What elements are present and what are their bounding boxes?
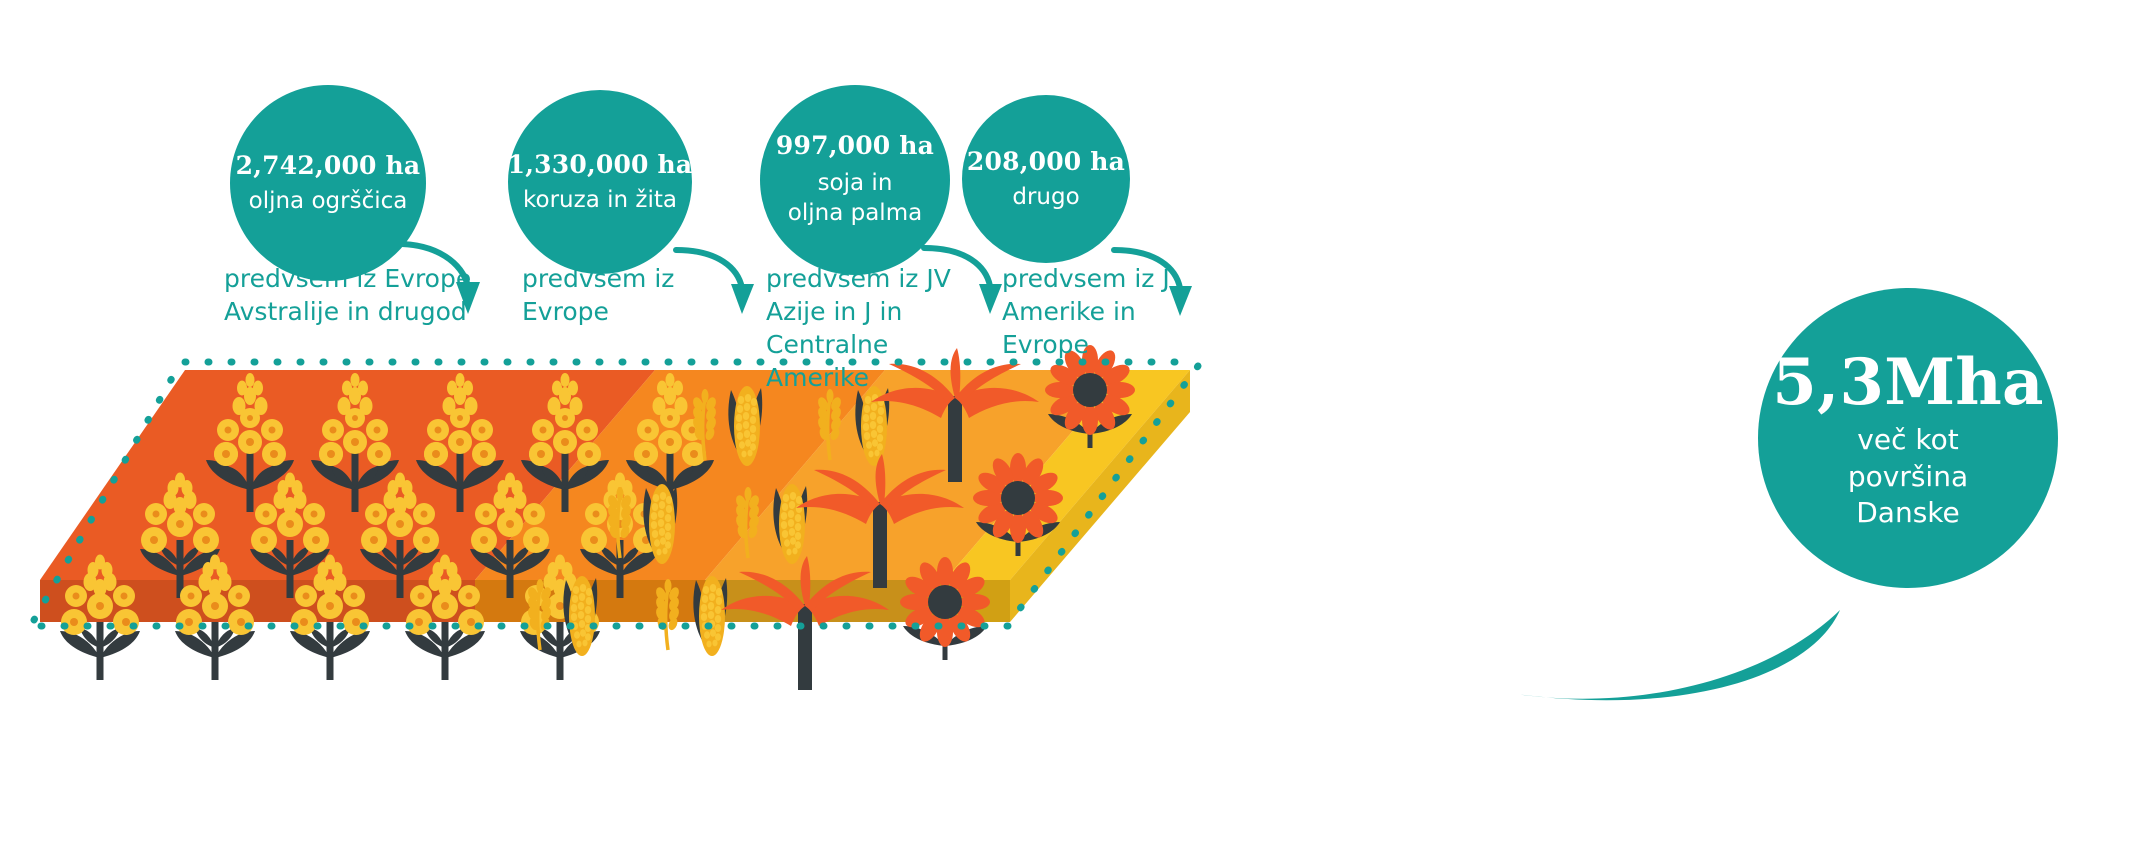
origin-caption-corn: predvsem iz Evrope	[522, 262, 722, 328]
stat-crop: drugo	[1012, 184, 1079, 211]
stat-bubble-other[interactable]: 208,000 ha drugo	[962, 95, 1130, 263]
total-description: več kotpovršinaDanske	[1848, 422, 1968, 531]
stat-amount: 1,330,000 ha	[508, 150, 693, 180]
stat-bubble-soy-palm[interactable]: 997,000 ha soja inoljna palma	[760, 85, 950, 275]
stat-amount: 208,000 ha	[967, 147, 1125, 177]
field-illustration	[0, 330, 1300, 855]
origin-caption-other: predvsem iz J Amerike in Evrope	[1002, 262, 1202, 361]
stat-amount: 997,000 ha	[776, 131, 934, 161]
stat-crop: oljna ogrščica	[249, 188, 408, 215]
stat-bubble-rapeseed[interactable]: 2,742,000 ha oljna ogrščica	[230, 85, 426, 281]
stat-bubble-corn[interactable]: 1,330,000 ha koruza in žita	[508, 90, 692, 274]
total-amount: 5,3Mha	[1772, 345, 2043, 421]
stat-crop: soja inoljna palma	[788, 168, 922, 229]
total-bubble[interactable]: 5,3Mha več kotpovršinaDanske	[1758, 288, 2058, 588]
infographic-canvas: 2,742,000 ha oljna ogrščica 1,330,000 ha…	[0, 0, 2131, 855]
origin-caption-rapeseed: predvsem iz Evrope, Avstralije in drugod	[224, 262, 514, 328]
origin-caption-soy-palm: predvsem iz JV Azije in J in Centralne A…	[766, 262, 996, 394]
total-bubble-tail	[1510, 600, 1890, 750]
stat-crop: koruza in žita	[523, 187, 677, 214]
stat-amount: 2,742,000 ha	[236, 151, 421, 181]
